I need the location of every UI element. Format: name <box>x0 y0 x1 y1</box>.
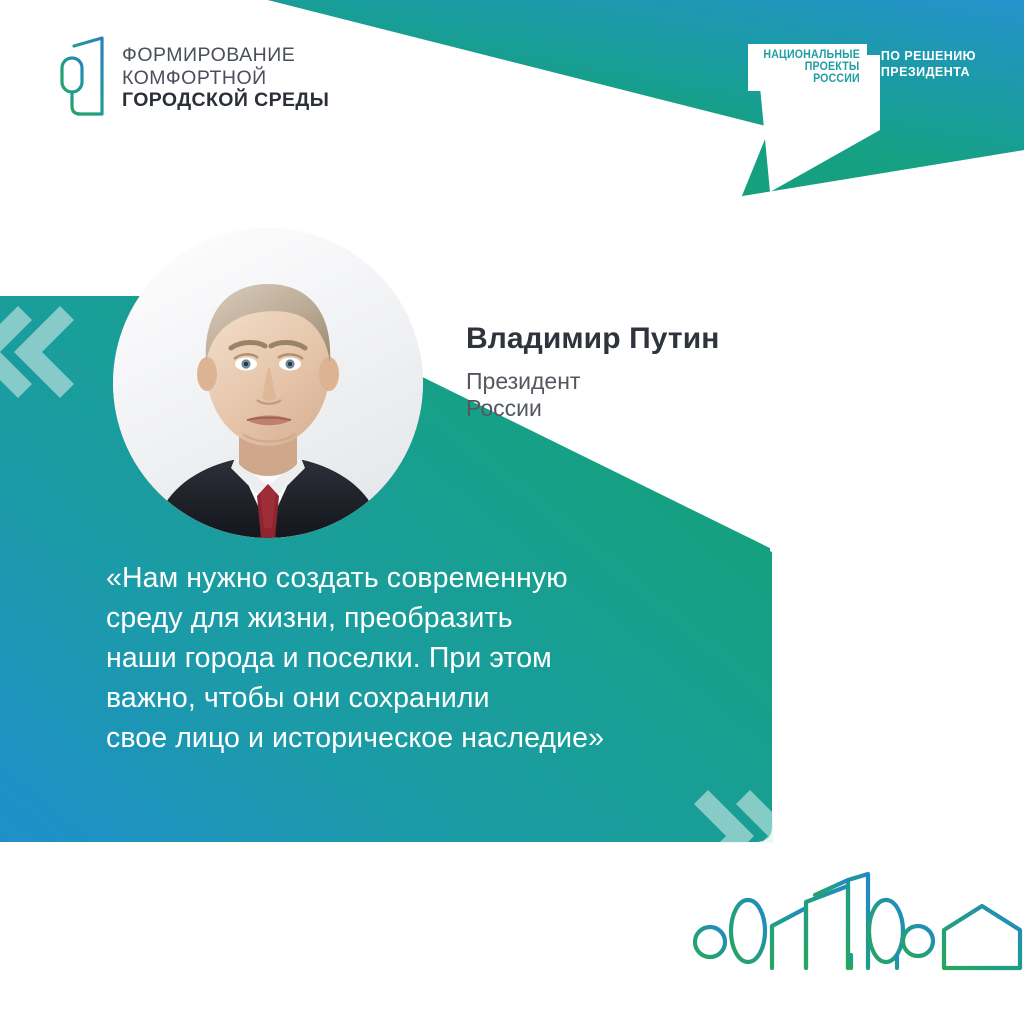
header-band <box>0 0 1024 1024</box>
tagline-line-1: ПО РЕШЕНИЮ <box>881 48 976 64</box>
poster-canvas: ФОРМИРОВАНИЕ КОМФОРТНОЙ ГОРОДСКОЙ СРЕДЫ … <box>0 0 1024 1024</box>
np-line-3: РОССИИ <box>813 73 860 85</box>
brand-left[interactable]: ФОРМИРОВАНИЕ КОМФОРТНОЙ ГОРОДСКОЙ СРЕДЫ <box>52 36 329 120</box>
national-projects-badge: НАЦИОНАЛЬНЫЕ ПРОЕКТЫ РОССИИ <box>748 44 867 91</box>
person-name: Владимир Путин <box>466 322 719 356</box>
president-tagline: ПО РЕШЕНИЮ ПРЕЗИДЕНТА <box>881 44 976 80</box>
person-info: Владимир Путин Президент России <box>466 322 719 421</box>
tagline-line-2: ПРЕЗИДЕНТА <box>881 64 976 80</box>
brand-left-words: ФОРМИРОВАНИЕ КОМФОРТНОЙ ГОРОДСКОЙ СРЕДЫ <box>122 44 329 112</box>
national-projects-logo[interactable]: НАЦИОНАЛЬНЫЕ ПРОЕКТЫ РОССИИ ПО РЕШЕНИЮ П… <box>748 44 976 91</box>
quote-text: «Нам нужно создать современную среду для… <box>106 558 766 758</box>
brand-line-2: КОМФОРТНОЙ <box>122 67 329 90</box>
portrait-illustration <box>113 228 423 538</box>
brand-line-3: ГОРОДСКОЙ СРЕДЫ <box>122 89 329 112</box>
np-line-2: ПРОЕКТЫ <box>805 61 860 73</box>
brand-line-1: ФОРМИРОВАНИЕ <box>122 44 329 67</box>
person-role: Президент России <box>466 368 719 421</box>
house-with-pin-logo-icon <box>52 36 108 120</box>
avatar <box>113 228 423 538</box>
np-line-1: НАЦИОНАЛЬНЫЕ <box>763 49 860 61</box>
